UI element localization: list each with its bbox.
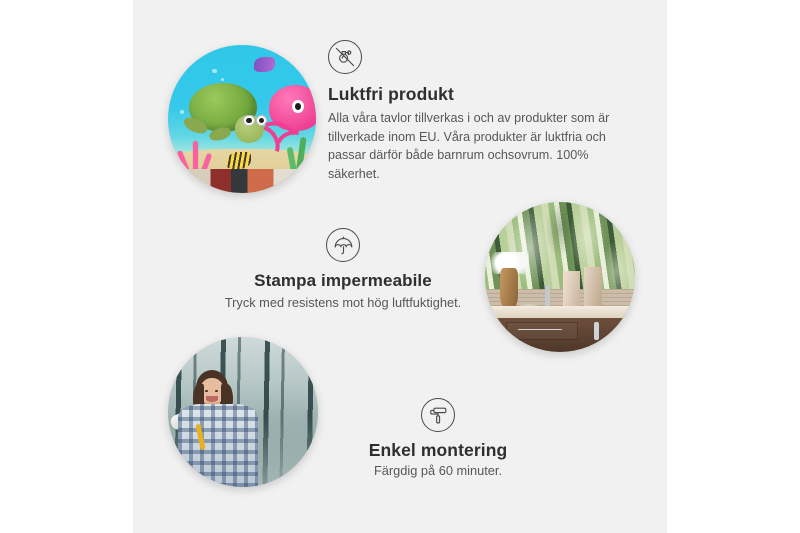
photo-bottom-strip [186, 169, 299, 193]
drawer-handle [518, 329, 562, 330]
feature-body: Färgdig på 60 minuter. [308, 462, 568, 481]
underwater-cartoon-mural-photo [168, 45, 316, 193]
purple-fish-illustration [254, 57, 275, 72]
woman-figure [174, 370, 267, 487]
bathroom-tropical-wallpaper-photo [485, 202, 635, 352]
soap-dispenser [563, 271, 580, 309]
bubble-icon [212, 69, 216, 73]
feature-easy-install: Enkel montering Färgdig på 60 minuter. [308, 398, 568, 481]
bubble-icon [221, 78, 224, 81]
plaid-shirt [178, 404, 258, 487]
vanity-cabinet [497, 318, 635, 353]
content-panel: Luktfri produkt Alla våra tavlor tillver… [133, 0, 667, 533]
umbrella-icon [326, 228, 360, 262]
bathroom-interior-photo [485, 202, 635, 352]
turtle-eye [243, 115, 254, 126]
flower-vase [500, 268, 518, 309]
woman-with-paint-roller-forest-photo [168, 337, 318, 487]
paint-roller-icon [421, 398, 455, 432]
feature-title: Luktfri produkt [328, 84, 628, 104]
product-benefits-page: Luktfri produkt Alla våra tavlor tillver… [0, 0, 800, 533]
forest-mural-photo [168, 337, 318, 487]
feature-waterproof: Stampa impermeabile Tryck med resistens … [193, 228, 493, 312]
feature-title: Stampa impermeabile [193, 271, 493, 291]
cabinet-handle [594, 322, 599, 340]
feature-title: Enkel montering [308, 440, 568, 460]
cabinet-drawer [506, 322, 579, 339]
bubble-icon [180, 110, 184, 114]
no-odour-spray-bottle-icon [328, 40, 362, 74]
feature-body: Tryck med resistens mot hög luftfuktighe… [193, 294, 493, 313]
faucet [545, 285, 550, 306]
feature-body: Alla våra tavlor tillverkas i och av pro… [328, 109, 628, 183]
soap-dispenser [584, 267, 602, 309]
underwater-scene-illustration [168, 45, 316, 193]
feature-odourless: Luktfri produkt Alla våra tavlor tillver… [328, 40, 628, 183]
